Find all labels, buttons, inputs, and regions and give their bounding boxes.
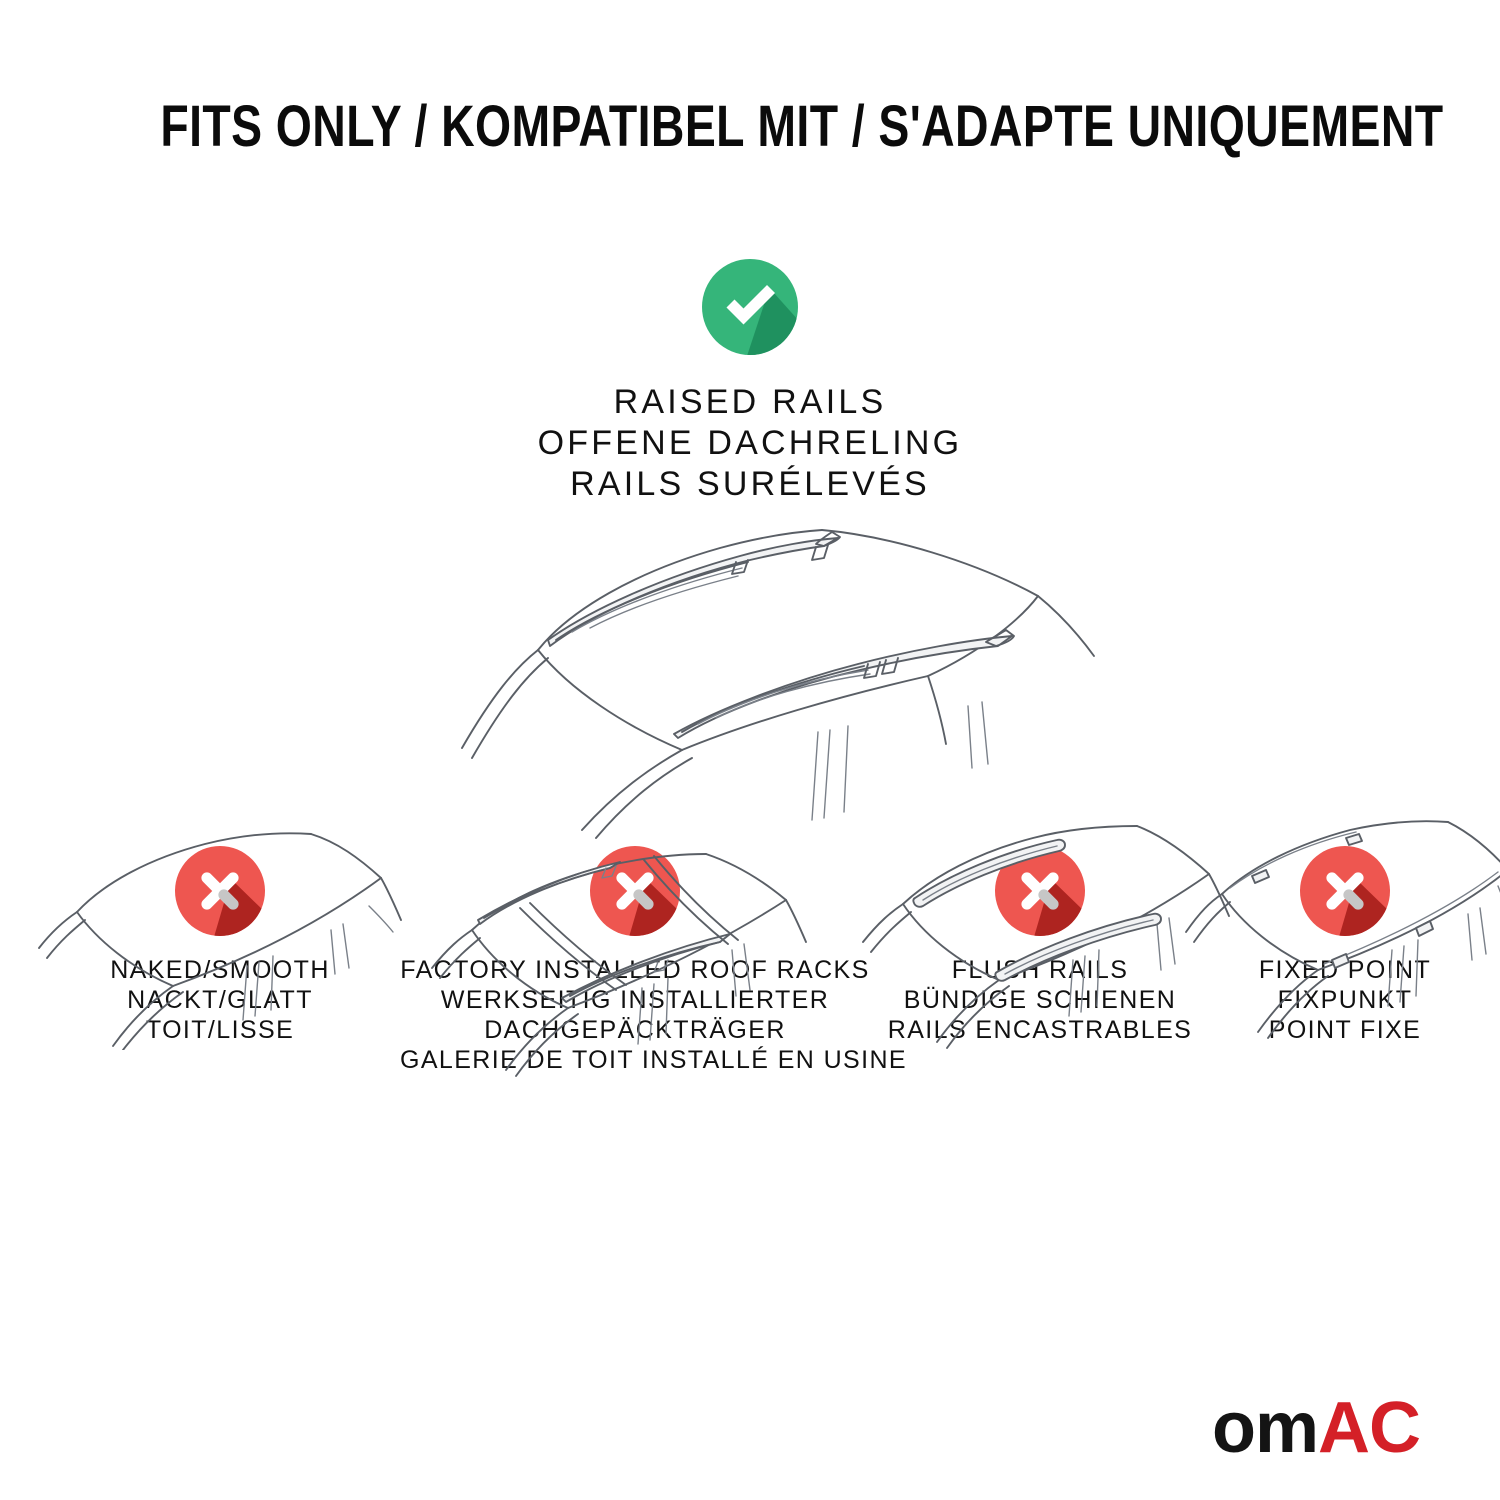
approved-label-line-1: RAISED RAILS: [0, 382, 1500, 423]
rejected-type-factory-roof-racks: FACTORY INSTALLED ROOF RACKS WERKSEITIG …: [400, 845, 870, 1075]
rejected-type-naked-smooth: NAKED/SMOOTH NACKT/GLATT TOIT/LISSE: [30, 845, 410, 1045]
rejected-type-fixed-point: FIXED POINT FIXPUNKT POINT FIXE: [1200, 845, 1490, 1045]
naked-smooth-illustration: [25, 820, 405, 1050]
approved-label-stack: RAISED RAILS OFFENE DACHRELING RAILS SUR…: [0, 382, 1500, 505]
approved-label-line-3: RAILS SURÉLEVÉS: [0, 464, 1500, 505]
rejected-type-flush-rails: FLUSH RAILS BÜNDIGE SCHIENEN RAILS ENCAS…: [870, 845, 1210, 1045]
page-title-text: FITS ONLY / KOMPATIBEL MIT / S'ADAPTE UN…: [160, 98, 1443, 156]
fixed-point-illustration: [1180, 820, 1500, 1050]
rejected-types-row: NAKED/SMOOTH NACKT/GLATT TOIT/LISSE: [0, 845, 1500, 1275]
approved-label-line-2: OFFENE DACHRELING: [0, 423, 1500, 464]
omac-logo-dark-part: om: [1212, 1388, 1318, 1468]
flush-rails-illustration: [845, 820, 1235, 1050]
page-title: FITS ONLY / KOMPATIBEL MIT / S'ADAPTE UN…: [0, 98, 1500, 156]
omac-logo-red-part: AC: [1318, 1388, 1420, 1468]
check-circle-icon: [701, 258, 799, 356]
factory-roof-rack-illustration: [410, 850, 810, 1080]
approved-type-block: RAISED RAILS OFFENE DACHRELING RAILS SUR…: [0, 258, 1500, 505]
omac-logo: omAC: [1212, 1392, 1420, 1464]
raised-rails-illustration: [420, 500, 1100, 840]
